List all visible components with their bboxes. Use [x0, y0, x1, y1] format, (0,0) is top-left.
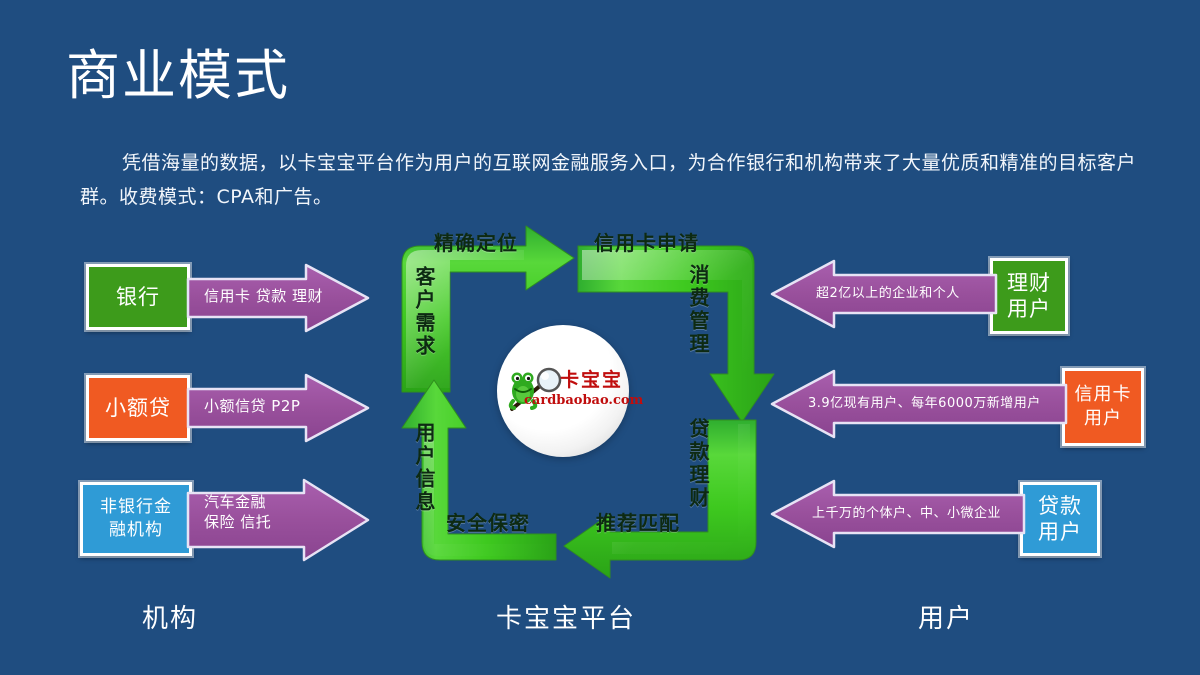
flow-arrow-creditcard-user-to-platform: 3.9亿现有用户、每年6000万新增用户 [768, 368, 1068, 440]
entity-box-bank-label: 银行 [116, 284, 160, 310]
caption-platform: 卡宝宝平台 [496, 598, 636, 635]
flow-arrow-bank-to-platform: 信用卡 贷款 理财 [186, 262, 370, 334]
entity-box-microloan-label: 小额贷 [105, 395, 171, 421]
entity-box-wealth-user[interactable]: 理财 用户 [990, 258, 1068, 334]
entity-box-nonbank-label: 非银行金 融机构 [100, 496, 172, 542]
flow-arrow-loan-user-to-platform: 上千万的个体户、中、小微企业 [768, 478, 1026, 550]
body-paragraph: 凭借海量的数据，以卡宝宝平台作为用户的互联网金融服务入口，为合作银行和机构带来了… [80, 146, 1140, 214]
entity-box-microloan[interactable]: 小额贷 [86, 375, 190, 441]
entity-box-wealth-user-label: 理财 用户 [1007, 270, 1051, 322]
platform-logo-bubble: 卡宝宝 cardbaobao.com [497, 325, 629, 457]
logo-name-cn: 卡宝宝 [560, 365, 623, 392]
entity-box-nonbank[interactable]: 非银行金 融机构 [80, 482, 192, 556]
caption-institutions: 机构 [142, 598, 198, 635]
page-title: 商业模式 [66, 44, 290, 108]
flow-arrow-nonbank-to-platform: 汽车金融 保险 信托 [186, 478, 370, 562]
entity-box-loan-user-label: 贷款 用户 [1038, 493, 1082, 545]
flow-arrow-wealth-user-to-platform: 超2亿以上的企业和个人 [768, 258, 998, 330]
entity-box-bank[interactable]: 银行 [86, 264, 190, 330]
entity-box-loan-user[interactable]: 贷款 用户 [1020, 482, 1100, 556]
caption-users: 用户 [918, 598, 974, 635]
slide-canvas: 商业模式 凭借海量的数据，以卡宝宝平台作为用户的互联网金融服务入口，为合作银行和… [0, 0, 1200, 675]
flow-arrow-microloan-to-platform: 小额信贷 P2P [186, 372, 370, 444]
entity-box-creditcard-user[interactable]: 信用卡 用户 [1062, 368, 1144, 446]
entity-box-creditcard-user-label: 信用卡 用户 [1075, 383, 1132, 431]
logo-url: cardbaobao.com [524, 393, 643, 408]
